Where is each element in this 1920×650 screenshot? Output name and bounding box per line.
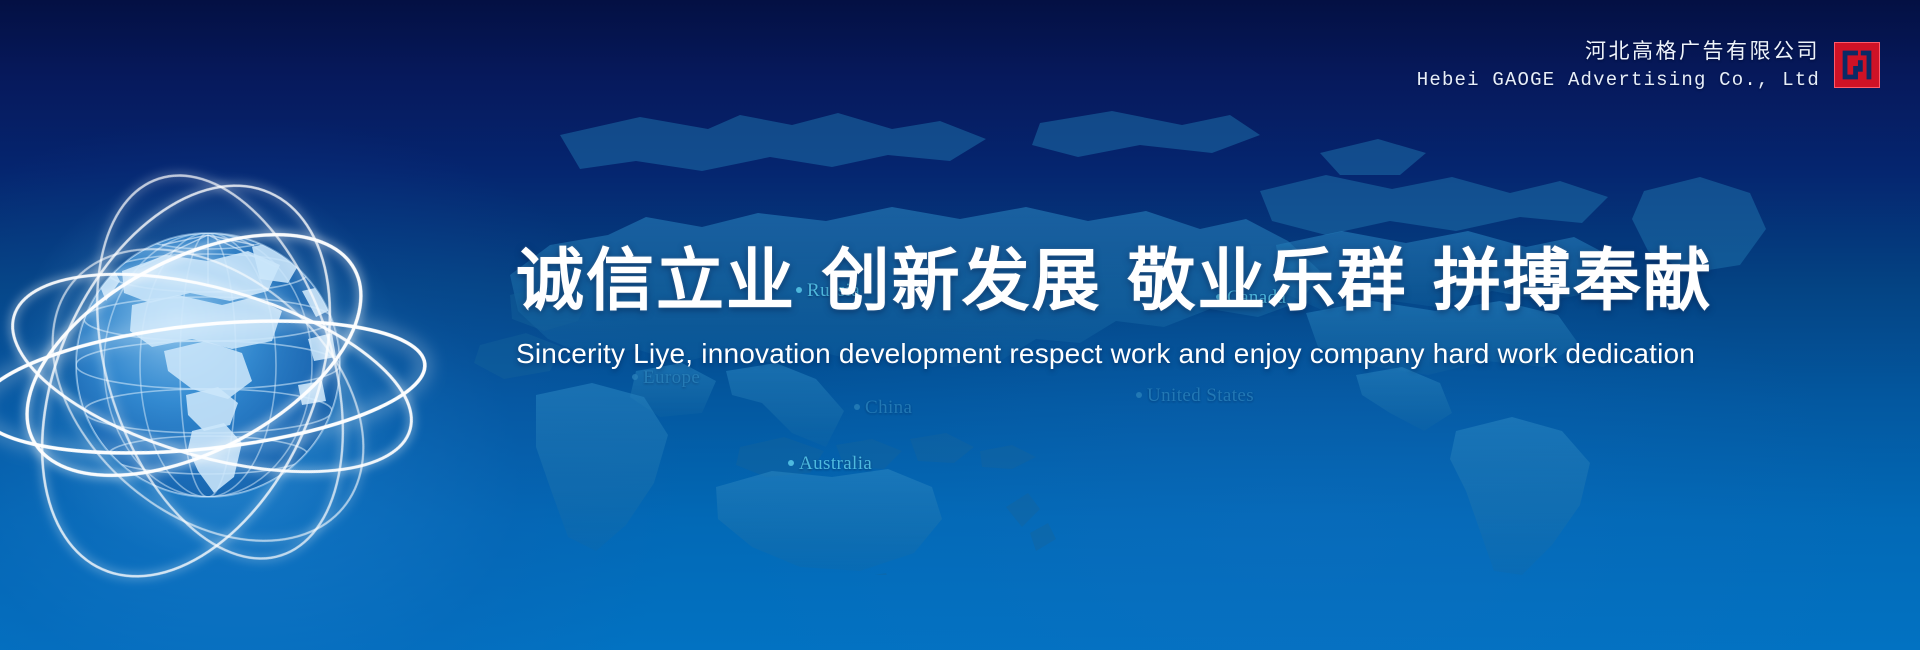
advertising-banner: Russia Canada Australia Europe China Uni…	[0, 0, 1920, 650]
map-label-australia: Australia	[788, 453, 872, 475]
globe-sphere	[76, 233, 340, 497]
globe-halo	[12, 169, 404, 561]
orbit-ring-4	[0, 141, 387, 622]
map-label-text: China	[865, 397, 912, 418]
company-name-block: 河北高格广告有限公司 Hebei GAOGE Advertising Co., …	[1417, 36, 1820, 94]
map-label-text: Australia	[799, 453, 872, 474]
map-label-text: United States	[1147, 385, 1254, 406]
slogan-chinese: 诚信立业 创新发展 敬业乐群 拼搏奉献	[516, 240, 1876, 324]
company-name-chinese: 河北高格广告有限公司	[1417, 36, 1820, 66]
globe-continents	[92, 233, 336, 493]
orbit-ring-1	[0, 185, 400, 525]
orbit-ring-2	[0, 235, 433, 510]
map-marker-dot	[854, 404, 860, 410]
slogan-english: Sincerity Liye, innovation development r…	[516, 332, 1876, 376]
orbit-ring-5	[52, 144, 387, 590]
company-identity: 河北高格广告有限公司 Hebei GAOGE Advertising Co., …	[1417, 36, 1880, 94]
gg-monogram-icon	[1835, 43, 1879, 87]
map-marker-dot	[1136, 392, 1142, 398]
globe-surface	[76, 221, 340, 497]
company-logo	[1834, 42, 1880, 88]
company-name-english: Hebei GAOGE Advertising Co., Ltd	[1417, 66, 1820, 94]
globe-svg	[0, 95, 440, 615]
orbit-ring-6	[0, 190, 420, 600]
orbit-ring-3	[0, 302, 431, 472]
slogan-block: 诚信立业 创新发展 敬业乐群 拼搏奉献 Sincerity Liye, inno…	[516, 240, 1876, 376]
map-label-china: China	[854, 397, 912, 419]
globe-graphic	[0, 95, 440, 615]
orbit-rings	[0, 141, 433, 622]
map-marker-dot	[788, 460, 794, 466]
map-label-united-states: United States	[1136, 385, 1254, 407]
background-glow-left	[0, 120, 680, 650]
globe-rim	[76, 233, 340, 497]
